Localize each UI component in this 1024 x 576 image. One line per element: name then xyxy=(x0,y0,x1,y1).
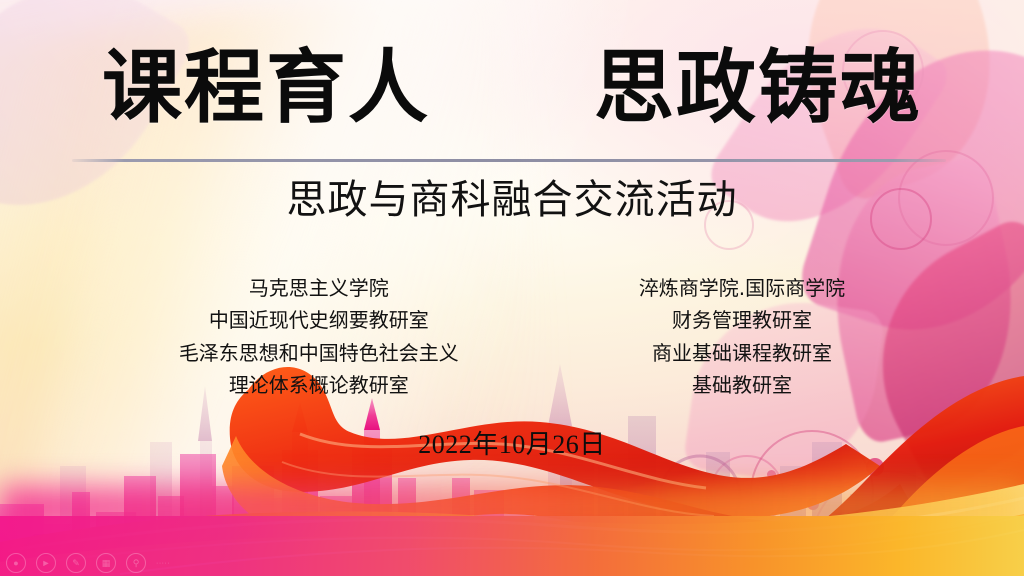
organization-line: 毛泽东思想和中国特色社会主义 xyxy=(179,337,459,369)
presentation-slide: ● ► ✎ ▦ ⚲ ····· 课程育人 思政铸魂 思政与商科融合交流活动 马克… xyxy=(0,0,1024,576)
organization-line: 马克思主义学院 xyxy=(179,272,459,304)
organization-line: 基础教研室 xyxy=(639,369,845,401)
organization-column-right: 淬炼商学院.国际商学院 财务管理教研室 商业基础课程教研室 基础教研室 xyxy=(639,272,845,402)
event-date: 2022年10月26日 xyxy=(0,424,1024,461)
organizations-block: 马克思主义学院 中国近现代史纲要教研室 毛泽东思想和中国特色社会主义 理论体系概… xyxy=(0,272,1024,402)
organization-line: 商业基础课程教研室 xyxy=(639,337,845,369)
slide-content: 课程育人 思政铸魂 思政与商科融合交流活动 马克思主义学院 中国近现代史纲要教研… xyxy=(0,0,1024,576)
organization-column-left: 马克思主义学院 中国近现代史纲要教研室 毛泽东思想和中国特色社会主义 理论体系概… xyxy=(179,272,459,402)
organization-line: 中国近现代史纲要教研室 xyxy=(179,304,459,336)
title-divider xyxy=(72,159,946,162)
subtitle: 思政与商科融合交流活动 xyxy=(0,176,1024,224)
organization-line: 淬炼商学院.国际商学院 xyxy=(639,272,845,304)
organization-line: 财务管理教研室 xyxy=(639,304,845,336)
page-title: 课程育人 思政铸魂 xyxy=(0,48,1024,128)
organization-line: 理论体系概论教研室 xyxy=(179,369,459,401)
